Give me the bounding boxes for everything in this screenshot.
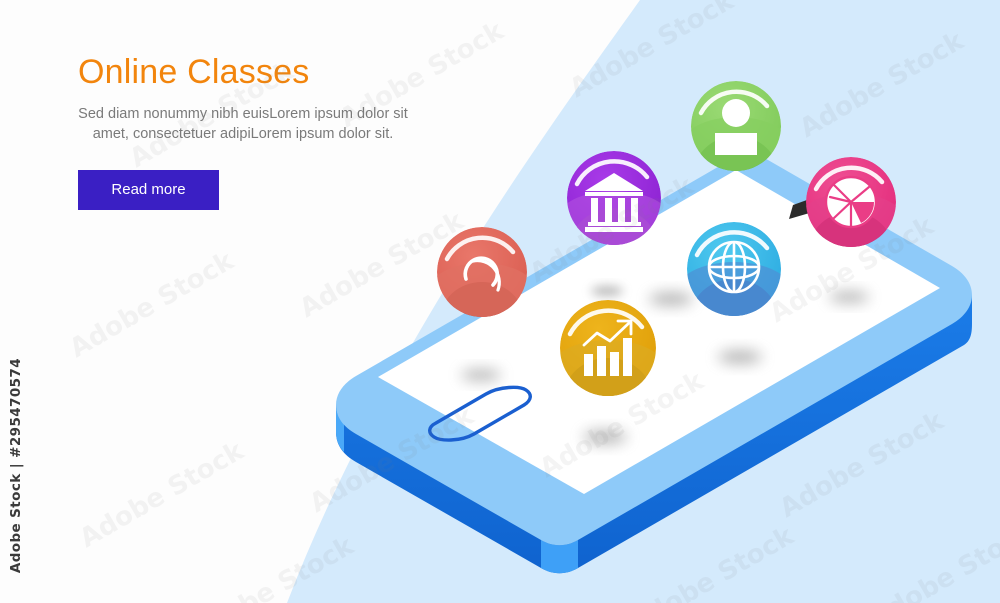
page-subtitle: Sed diam nonummy nibh euisLorem ipsum do… bbox=[78, 104, 408, 144]
page-title: Online Classes bbox=[78, 52, 438, 92]
pie-chart-glyph bbox=[826, 177, 876, 227]
icon-bubble-user-person[interactable] bbox=[691, 81, 781, 189]
watermark-id: Adobe Stock | #295470574 bbox=[8, 358, 24, 573]
globe-glyph bbox=[709, 242, 759, 292]
icon-bubble-pie-chart[interactable] bbox=[806, 157, 896, 265]
icon-bubble-globe[interactable] bbox=[687, 222, 781, 334]
icon-bubble-bank-building[interactable] bbox=[567, 151, 661, 263]
read-more-button[interactable]: Read more bbox=[78, 170, 219, 210]
hero-copy: Online Classes Sed diam nonummy nibh eui… bbox=[78, 52, 438, 210]
icon-bubble-loading-rings[interactable] bbox=[437, 227, 527, 335]
icon-bubble-bar-chart-growth[interactable] bbox=[560, 300, 656, 414]
poster-canvas: Online Classes Sed diam nonummy nibh eui… bbox=[0, 0, 1000, 603]
